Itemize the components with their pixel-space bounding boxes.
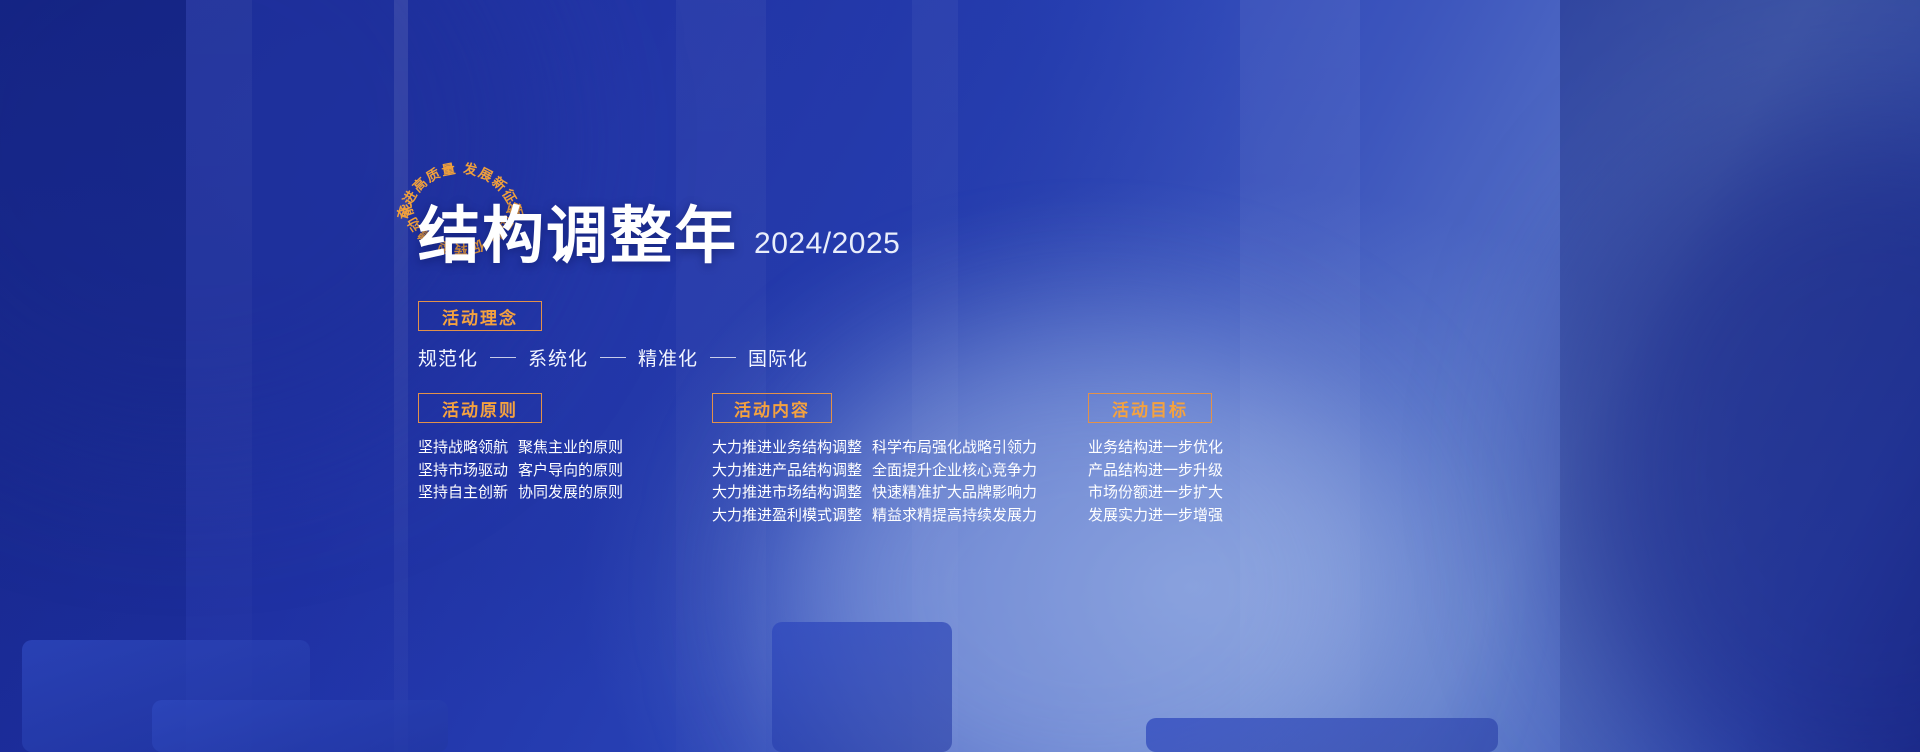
list-item: 大力推进产品结构调整全面提升企业核心竞争力: [712, 460, 1037, 483]
title-row: 结构调整年 2024/2025: [418, 205, 900, 267]
badge-content-label: 活动内容: [734, 396, 810, 421]
page-title: 结构调整年: [418, 205, 738, 267]
list-item: 坚持市场驱动客户导向的原则: [418, 460, 623, 483]
list-item: 坚持战略领航聚焦主业的原则: [418, 437, 623, 460]
background-decoration: [0, 0, 1920, 752]
campaign-banner: 奋进高质量 发展新征程 强品牌 促转型 增动能 结构调整年 2024/2025 …: [0, 0, 1920, 752]
bg-block-4: [1146, 718, 1498, 752]
list-item: 业务结构进一步优化: [1088, 437, 1223, 460]
bg-stripe-5: [1240, 0, 1360, 752]
list-item: 大力推进盈利模式调整精益求精提高持续发展力: [712, 505, 1037, 528]
separator-dash: [490, 357, 516, 359]
bg-stripe-3: [676, 0, 766, 752]
badge-activity-principle[interactable]: 活动原则: [418, 393, 542, 423]
content-list: 大力推进业务结构调整科学布局强化战略引领力 大力推进产品结构调整全面提升企业核心…: [712, 437, 1037, 527]
list-item: 大力推进市场结构调整快速精准扩大品牌影响力: [712, 482, 1037, 505]
list-item: 发展实力进一步增强: [1088, 505, 1223, 528]
list-item: 坚持自主创新协同发展的原则: [418, 482, 623, 505]
bg-column-right: [1560, 0, 1920, 752]
list-item: 市场份额进一步扩大: [1088, 482, 1223, 505]
concept-keyword-list: 规范化 系统化 精准化 国际化: [418, 344, 808, 371]
list-item: 产品结构进一步升级: [1088, 460, 1223, 483]
concept-keyword: 精准化: [638, 344, 698, 371]
separator-dash: [600, 357, 626, 359]
goal-list: 业务结构进一步优化 产品结构进一步升级 市场份额进一步扩大 发展实力进一步增强: [1088, 437, 1223, 527]
badge-activity-concept[interactable]: 活动理念: [418, 301, 542, 331]
badge-activity-goal[interactable]: 活动目标: [1088, 393, 1212, 423]
concept-keyword: 规范化: [418, 344, 478, 371]
year-label: 2024/2025: [754, 227, 900, 261]
concept-keyword: 系统化: [528, 344, 588, 371]
separator-dash: [710, 357, 736, 359]
badge-principle-label: 活动原则: [442, 396, 518, 421]
bg-stripe-2: [394, 0, 408, 752]
concept-keyword: 国际化: [748, 344, 808, 371]
badge-activity-content[interactable]: 活动内容: [712, 393, 832, 423]
list-item: 大力推进业务结构调整科学布局强化战略引领力: [712, 437, 1037, 460]
badge-concept-label: 活动理念: [442, 304, 518, 329]
bg-block-3: [772, 622, 952, 752]
bg-block-2: [152, 700, 448, 752]
principle-list: 坚持战略领航聚焦主业的原则 坚持市场驱动客户导向的原则 坚持自主创新协同发展的原…: [418, 437, 623, 505]
badge-goal-label: 活动目标: [1112, 396, 1188, 421]
